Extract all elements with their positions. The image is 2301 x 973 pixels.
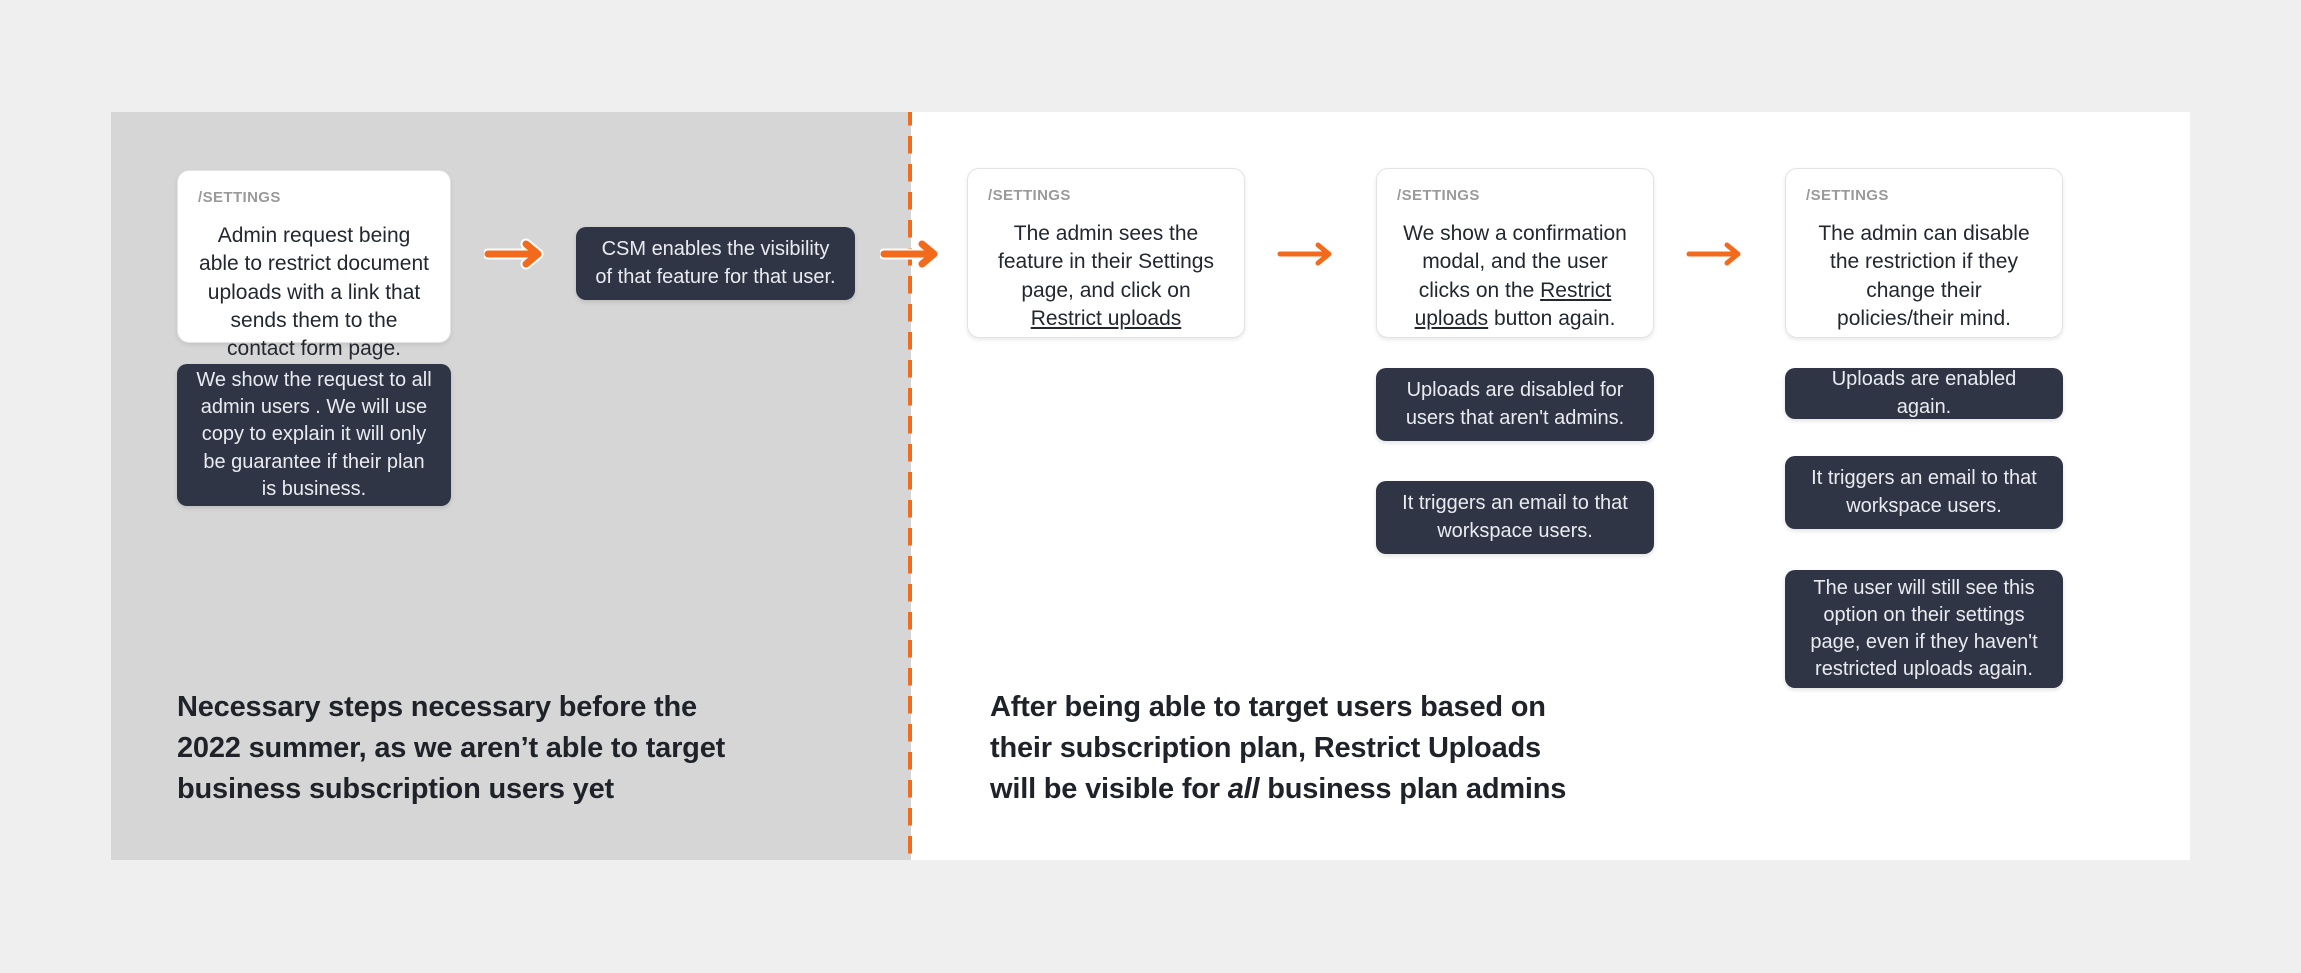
triggers-email-card-2-body: It triggers an email to that workspace u… [1394,490,1636,544]
user-still-sees-option-card[interactable]: The user will still see this option on t… [1785,570,2063,688]
show-request-card-body: We show the request to all admin users .… [195,367,433,503]
admin-sees-feature-card-body: The admin sees the feature in their Sett… [988,220,1224,333]
right-caption-suffix: business plan admins [1259,773,1566,805]
uploads-disabled-card-body: Uploads are disabled for users that aren… [1394,377,1636,431]
admin-can-disable-card-body: The admin can disable the restriction if… [1806,220,2042,333]
card-body-prefix: The admin can disable the restriction if… [1818,222,2029,330]
confirmation-modal-card[interactable]: /SETTINGS We show a confirmation modal, … [1376,168,1654,338]
csm-enables-card-body: CSM enables the visibility of that featu… [594,236,837,290]
right-panel-caption: After being able to target users based o… [990,687,1590,811]
card-body-suffix: button again. [1488,307,1615,330]
card-body-prefix: The admin sees the feature in their Sett… [998,222,1214,302]
admin-request-card[interactable]: /SETTINGS Admin request being able to re… [177,170,451,343]
triggers-email-card-3-body: It triggers an email to that workspace u… [1803,465,2045,519]
triggers-email-card-3[interactable]: It triggers an email to that workspace u… [1785,456,2063,529]
arrow-admin-sees-to-modal-icon [1277,238,1339,270]
admin-sees-feature-card[interactable]: /SETTINGS The admin sees the feature in … [967,168,1245,338]
confirmation-modal-card-body: We show a confirmation modal, and the us… [1397,220,1633,333]
triggers-email-card-2[interactable]: It triggers an email to that workspace u… [1376,481,1654,554]
arrow-request-to-csm-icon [484,236,548,272]
settings-tag: /SETTINGS [1806,187,2042,204]
admin-can-disable-card[interactable]: /SETTINGS The admin can disable the rest… [1785,168,2063,338]
settings-tag: /SETTINGS [988,187,1224,204]
left-panel-caption: Necessary steps necessary before the 202… [177,687,757,811]
panel-divider-dashed-line [908,112,912,860]
right-caption-emphasis: all [1228,773,1260,805]
uploads-enabled-card[interactable]: Uploads are enabled again. [1785,368,2063,419]
flow-diagram-board: /SETTINGS Admin request being able to re… [0,0,2301,973]
arrow-csm-to-admin-sees-icon [880,236,944,272]
arrow-modal-to-disable-icon [1686,238,1748,270]
settings-tag: /SETTINGS [198,189,430,206]
show-request-card[interactable]: We show the request to all admin users .… [177,364,451,506]
settings-tag: /SETTINGS [1397,187,1633,204]
uploads-enabled-card-body: Uploads are enabled again. [1803,366,2045,420]
user-still-sees-option-card-body: The user will still see this option on t… [1803,575,2045,684]
admin-request-card-body: Admin request being able to restrict doc… [198,222,430,364]
uploads-disabled-card[interactable]: Uploads are disabled for users that aren… [1376,368,1654,441]
restrict-uploads-link[interactable]: Restrict uploads [1031,307,1182,330]
csm-enables-card[interactable]: CSM enables the visibility of that featu… [576,227,855,300]
